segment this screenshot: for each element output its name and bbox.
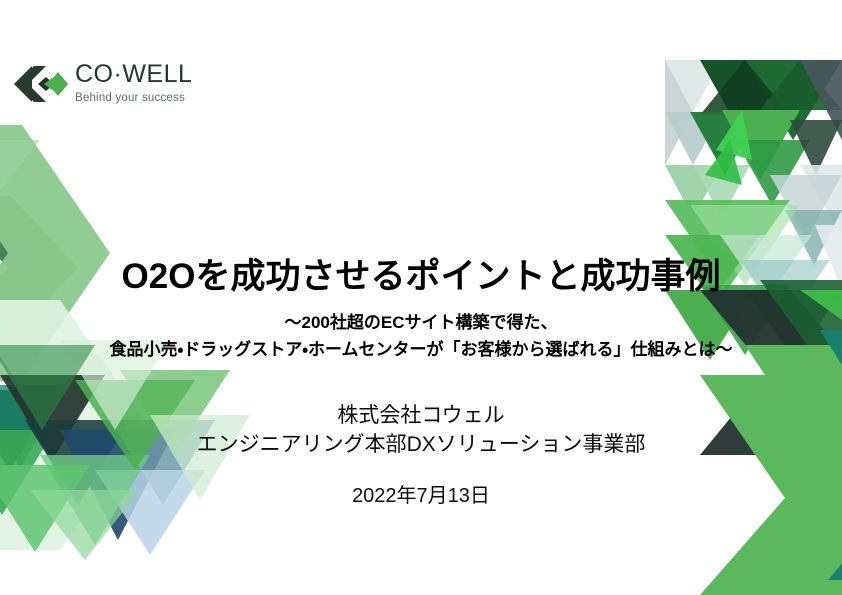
right-chevron-bright <box>745 345 842 595</box>
department-name: エンジニアリング本部DXソリューション事業部 <box>0 430 842 459</box>
logo-wordmark: CO·WELL <box>75 62 192 87</box>
cowell-logo: CO·WELL Behind your success <box>14 60 192 106</box>
subtitle-line-1: 〜200社超のECサイト構築で得た、 <box>0 312 842 335</box>
subtitle-line-2: 食品小売・ドラッグストア・ホームセンターが「お客様から選ばれる」仕組みとは〜 <box>0 339 842 362</box>
logo-tagline: Behind your success <box>75 93 192 105</box>
title-slide: CO·WELL Behind your success O2Oを成功させるポイン… <box>0 0 842 595</box>
cowell-logo-mark <box>14 62 68 106</box>
presentation-date: 2022年7月13日 <box>0 479 842 508</box>
left-pale-wedge <box>0 140 40 215</box>
company-name: 株式会社コウェル <box>0 401 842 430</box>
page-title: O2Oを成功させるポイントと成功事例 <box>0 258 842 297</box>
